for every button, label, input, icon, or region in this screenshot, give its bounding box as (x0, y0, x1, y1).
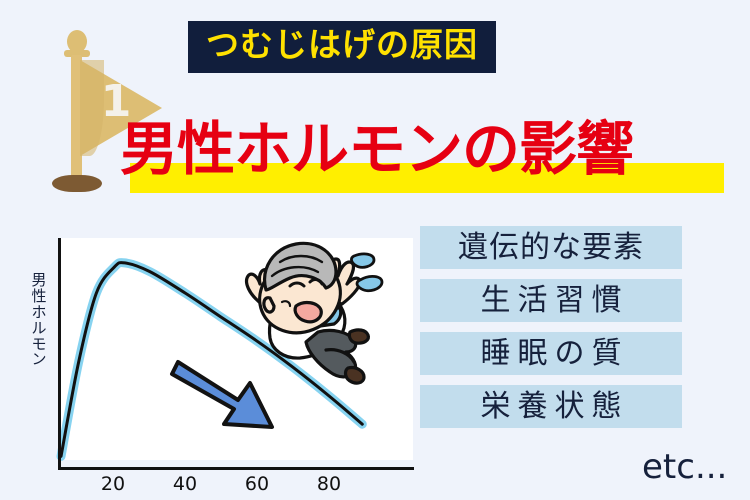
x-tick-80: 80 (317, 473, 341, 495)
factor-chip-sleep-quality: 睡眠の質 (420, 332, 682, 375)
factor-list-more-label: etc... (642, 450, 727, 484)
sweat-drops-icon (351, 254, 382, 291)
flag-base-icon (52, 175, 102, 192)
headline-block: 男性ホルモンの影響 (120, 110, 740, 198)
factor-chip-genetics: 遺伝的な要素 (420, 226, 682, 269)
eyebrow-badge: つむじはげの原因 (188, 21, 496, 73)
x-tick-20: 20 (101, 473, 125, 495)
factor-list: 遺伝的な要素 生活習慣 睡眠の質 栄養状態 (420, 226, 682, 438)
falling-man-illustration (208, 232, 398, 427)
x-tick-40: 40 (173, 473, 197, 495)
eyebrow-badge-label: つむじはげの原因 (206, 25, 478, 64)
infographic-root: 1 つむじはげの原因 男性ホルモンの影響 男 性 ホ ル モ ン (0, 0, 750, 500)
chart-x-tick-group: 20 40 60 80 (58, 473, 414, 497)
factor-label-sleep-quality: 睡眠の質 (474, 339, 629, 369)
factor-chip-nutrition: 栄養状態 (420, 385, 682, 428)
x-tick-60: 60 (245, 473, 269, 495)
page-title: 男性ホルモンの影響 (120, 110, 740, 188)
chart-y-axis (58, 238, 61, 470)
chart-x-axis (58, 467, 414, 470)
factor-chip-lifestyle: 生活習慣 (420, 279, 682, 322)
factor-label-genetics: 遺伝的な要素 (458, 233, 644, 263)
factor-label-lifestyle: 生活習慣 (474, 286, 629, 316)
factor-label-nutrition: 栄養状態 (474, 392, 629, 422)
